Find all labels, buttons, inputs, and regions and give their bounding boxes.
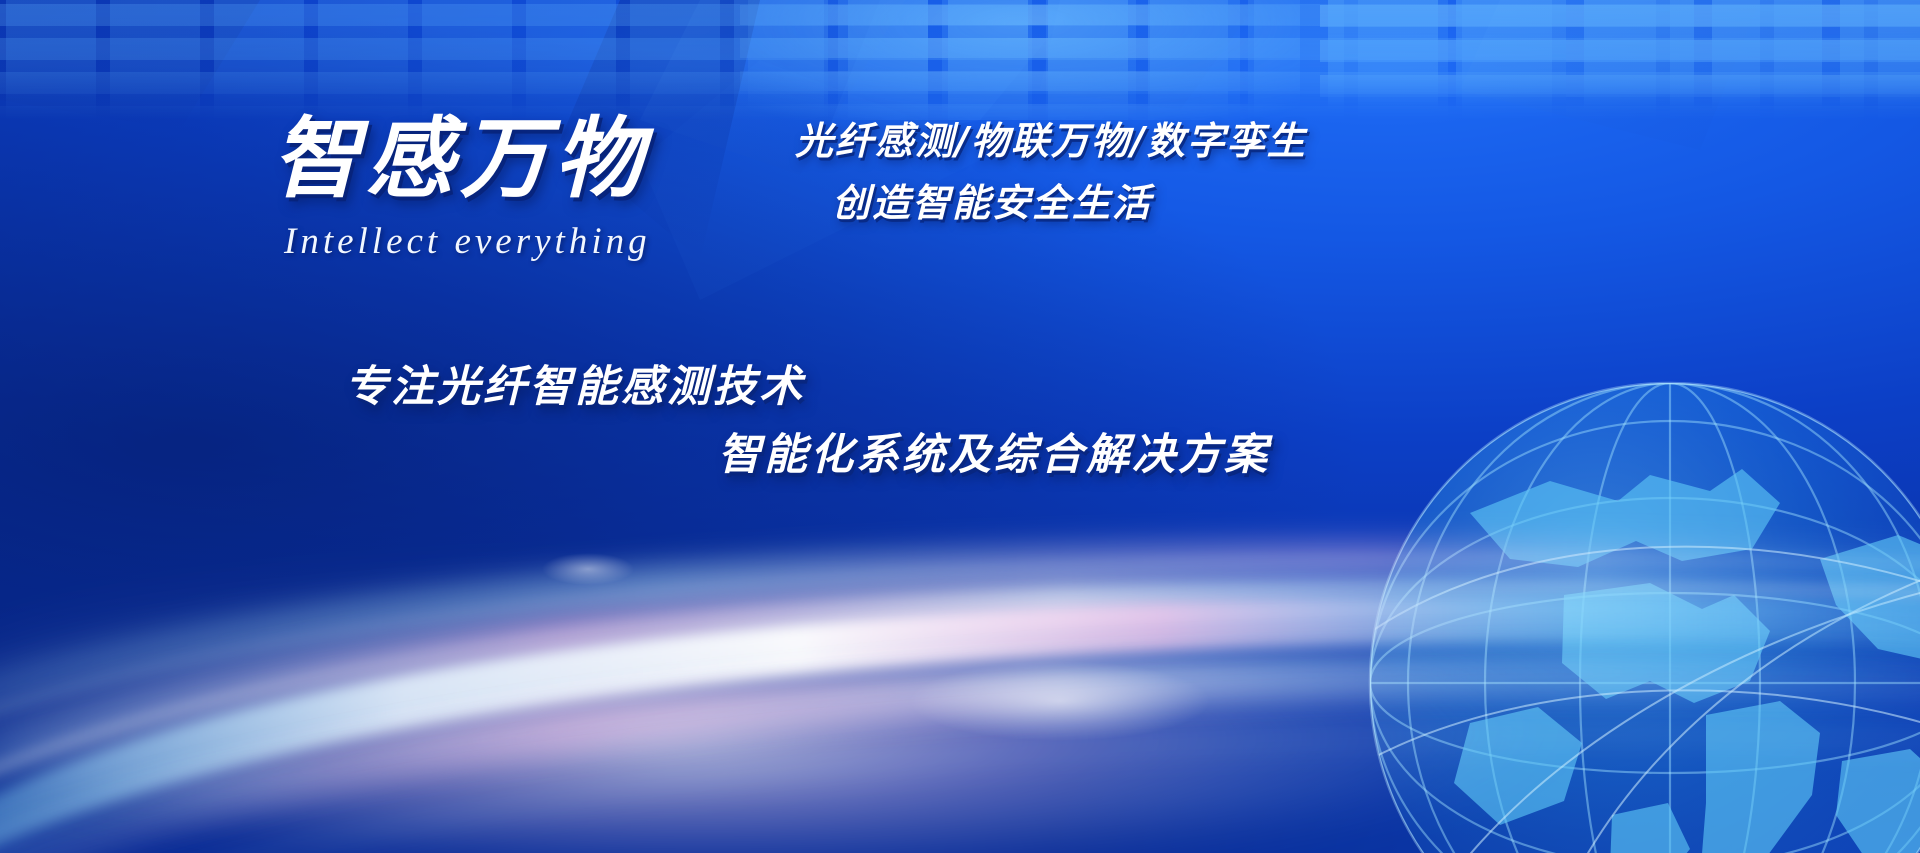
subheadline-line-1: 专注光纤智能感测技术 [345, 352, 805, 414]
promotional-banner: 智感万物 Intellect everything 光纤感测/物联万物/数字孪生… [0, 0, 1920, 853]
tagline-line-1: 光纤感测/物联万物/数字孪生 [795, 110, 1307, 165]
tagline-line-2: 创造智能安全生活 [832, 172, 1152, 227]
subheadline-line-2: 智能化系统及综合解决方案 [718, 420, 1270, 482]
headline-chinese: 智感万物 [272, 88, 648, 215]
headline-english: Intellect everything [284, 220, 651, 263]
light-swoosh-graphic [0, 453, 1920, 853]
